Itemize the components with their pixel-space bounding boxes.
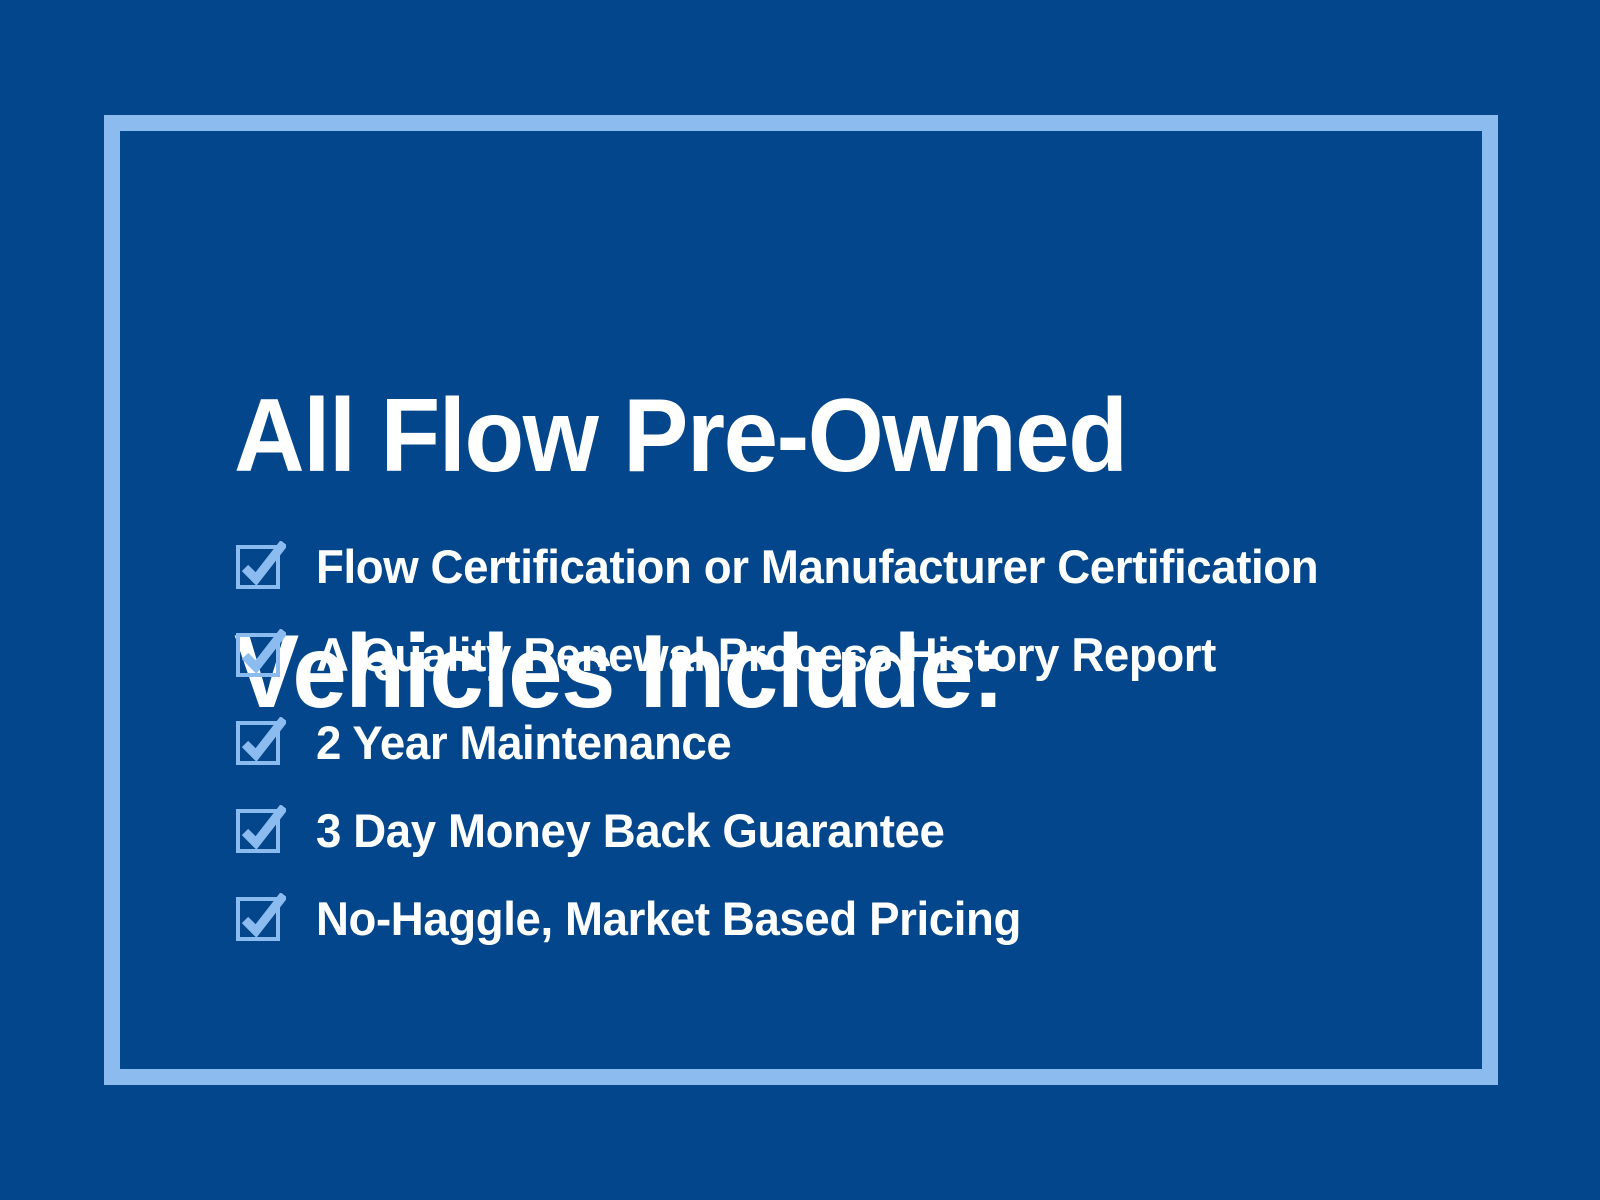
- list-item: No-Haggle, Market Based Pricing: [234, 875, 1464, 963]
- list-item: 3 Day Money Back Guarantee: [234, 787, 1464, 875]
- list-item-label: A Quality Renewal Process History Report: [316, 629, 1430, 681]
- promo-poster: All Flow Pre-Owned Vehicles Include: Flo…: [0, 0, 1600, 1200]
- benefits-checklist: Flow Certification or Manufacturer Certi…: [234, 523, 1464, 963]
- checkbox-checked-icon: [234, 805, 286, 857]
- list-item: A Quality Renewal Process History Report: [234, 611, 1464, 699]
- checkbox-checked-icon: [234, 717, 286, 769]
- checkbox-checked-icon: [234, 629, 286, 681]
- list-item: Flow Certification or Manufacturer Certi…: [234, 523, 1464, 611]
- list-item-label: 3 Day Money Back Guarantee: [316, 805, 1430, 857]
- list-item-label: 2 Year Maintenance: [316, 717, 1430, 769]
- page-title-line-1: All Flow Pre-Owned: [234, 377, 1343, 495]
- checkbox-checked-icon: [234, 893, 286, 945]
- list-item: 2 Year Maintenance: [234, 699, 1464, 787]
- list-item-label: Flow Certification or Manufacturer Certi…: [316, 541, 1430, 593]
- checkbox-checked-icon: [234, 541, 286, 593]
- list-item-label: No-Haggle, Market Based Pricing: [316, 893, 1430, 945]
